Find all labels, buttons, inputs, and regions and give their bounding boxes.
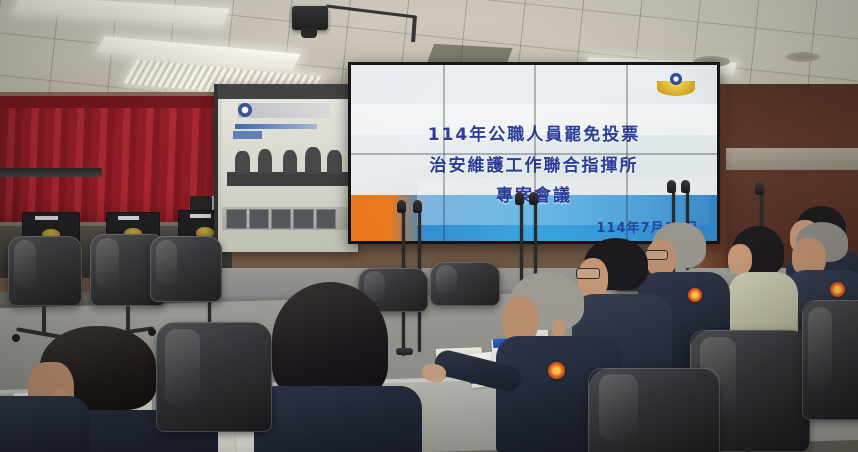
shoulder-patch <box>688 288 702 302</box>
feed-participant <box>327 150 341 175</box>
feed-desk <box>227 172 348 186</box>
curtain-rail <box>0 96 226 108</box>
ceiling-vent <box>786 52 820 62</box>
feed-header-stripe <box>235 124 317 129</box>
feed-participant <box>235 151 249 175</box>
wall-accent-band <box>722 148 858 170</box>
feed-header-block <box>233 131 262 139</box>
microphone-head <box>755 182 764 195</box>
microphone-head <box>413 200 422 213</box>
monitor-header <box>35 216 57 220</box>
screen-top-bar <box>218 84 358 99</box>
shoulder-patch <box>548 362 565 379</box>
eyeglasses <box>644 250 668 260</box>
shoulder-patch <box>830 282 845 297</box>
torso <box>0 396 90 452</box>
microphone-head <box>515 192 524 205</box>
emblem-sun <box>670 73 682 85</box>
left-projection-screen <box>214 84 358 252</box>
feed-participant <box>258 149 272 175</box>
feed-thumbnail <box>271 209 291 230</box>
feed-thumbnail <box>249 209 269 230</box>
video-conference-feed <box>222 99 354 207</box>
hair <box>272 282 388 400</box>
feed-participant <box>305 147 321 174</box>
microphone-head <box>667 180 676 193</box>
projection-screen-roller <box>0 168 102 177</box>
video-wall-bezel <box>351 153 717 155</box>
microphone-head <box>529 192 538 205</box>
feed-thumbnail <box>316 209 336 230</box>
conference-room-photo: 114年公職人員罷免投票 治安維護工作聯合指揮所 專案會議 114年7月17日 <box>0 0 858 452</box>
monitor-header <box>118 216 139 220</box>
torso <box>254 386 422 452</box>
agency-crest-icon <box>238 103 252 117</box>
police-emblem-icon <box>657 72 695 98</box>
feed-header-banner <box>238 103 330 118</box>
microphone-head <box>397 200 406 213</box>
ceiling-projector <box>292 6 328 30</box>
microphone-base <box>396 348 413 355</box>
feed-thumbnail <box>293 209 313 230</box>
monitor-header <box>190 214 211 218</box>
feed-thumbnail-strip <box>222 207 354 231</box>
microphone-head <box>681 180 690 193</box>
feed-thumbnail <box>226 209 246 230</box>
feed-participant <box>283 150 297 175</box>
eyeglasses <box>576 268 600 279</box>
head <box>728 244 752 274</box>
